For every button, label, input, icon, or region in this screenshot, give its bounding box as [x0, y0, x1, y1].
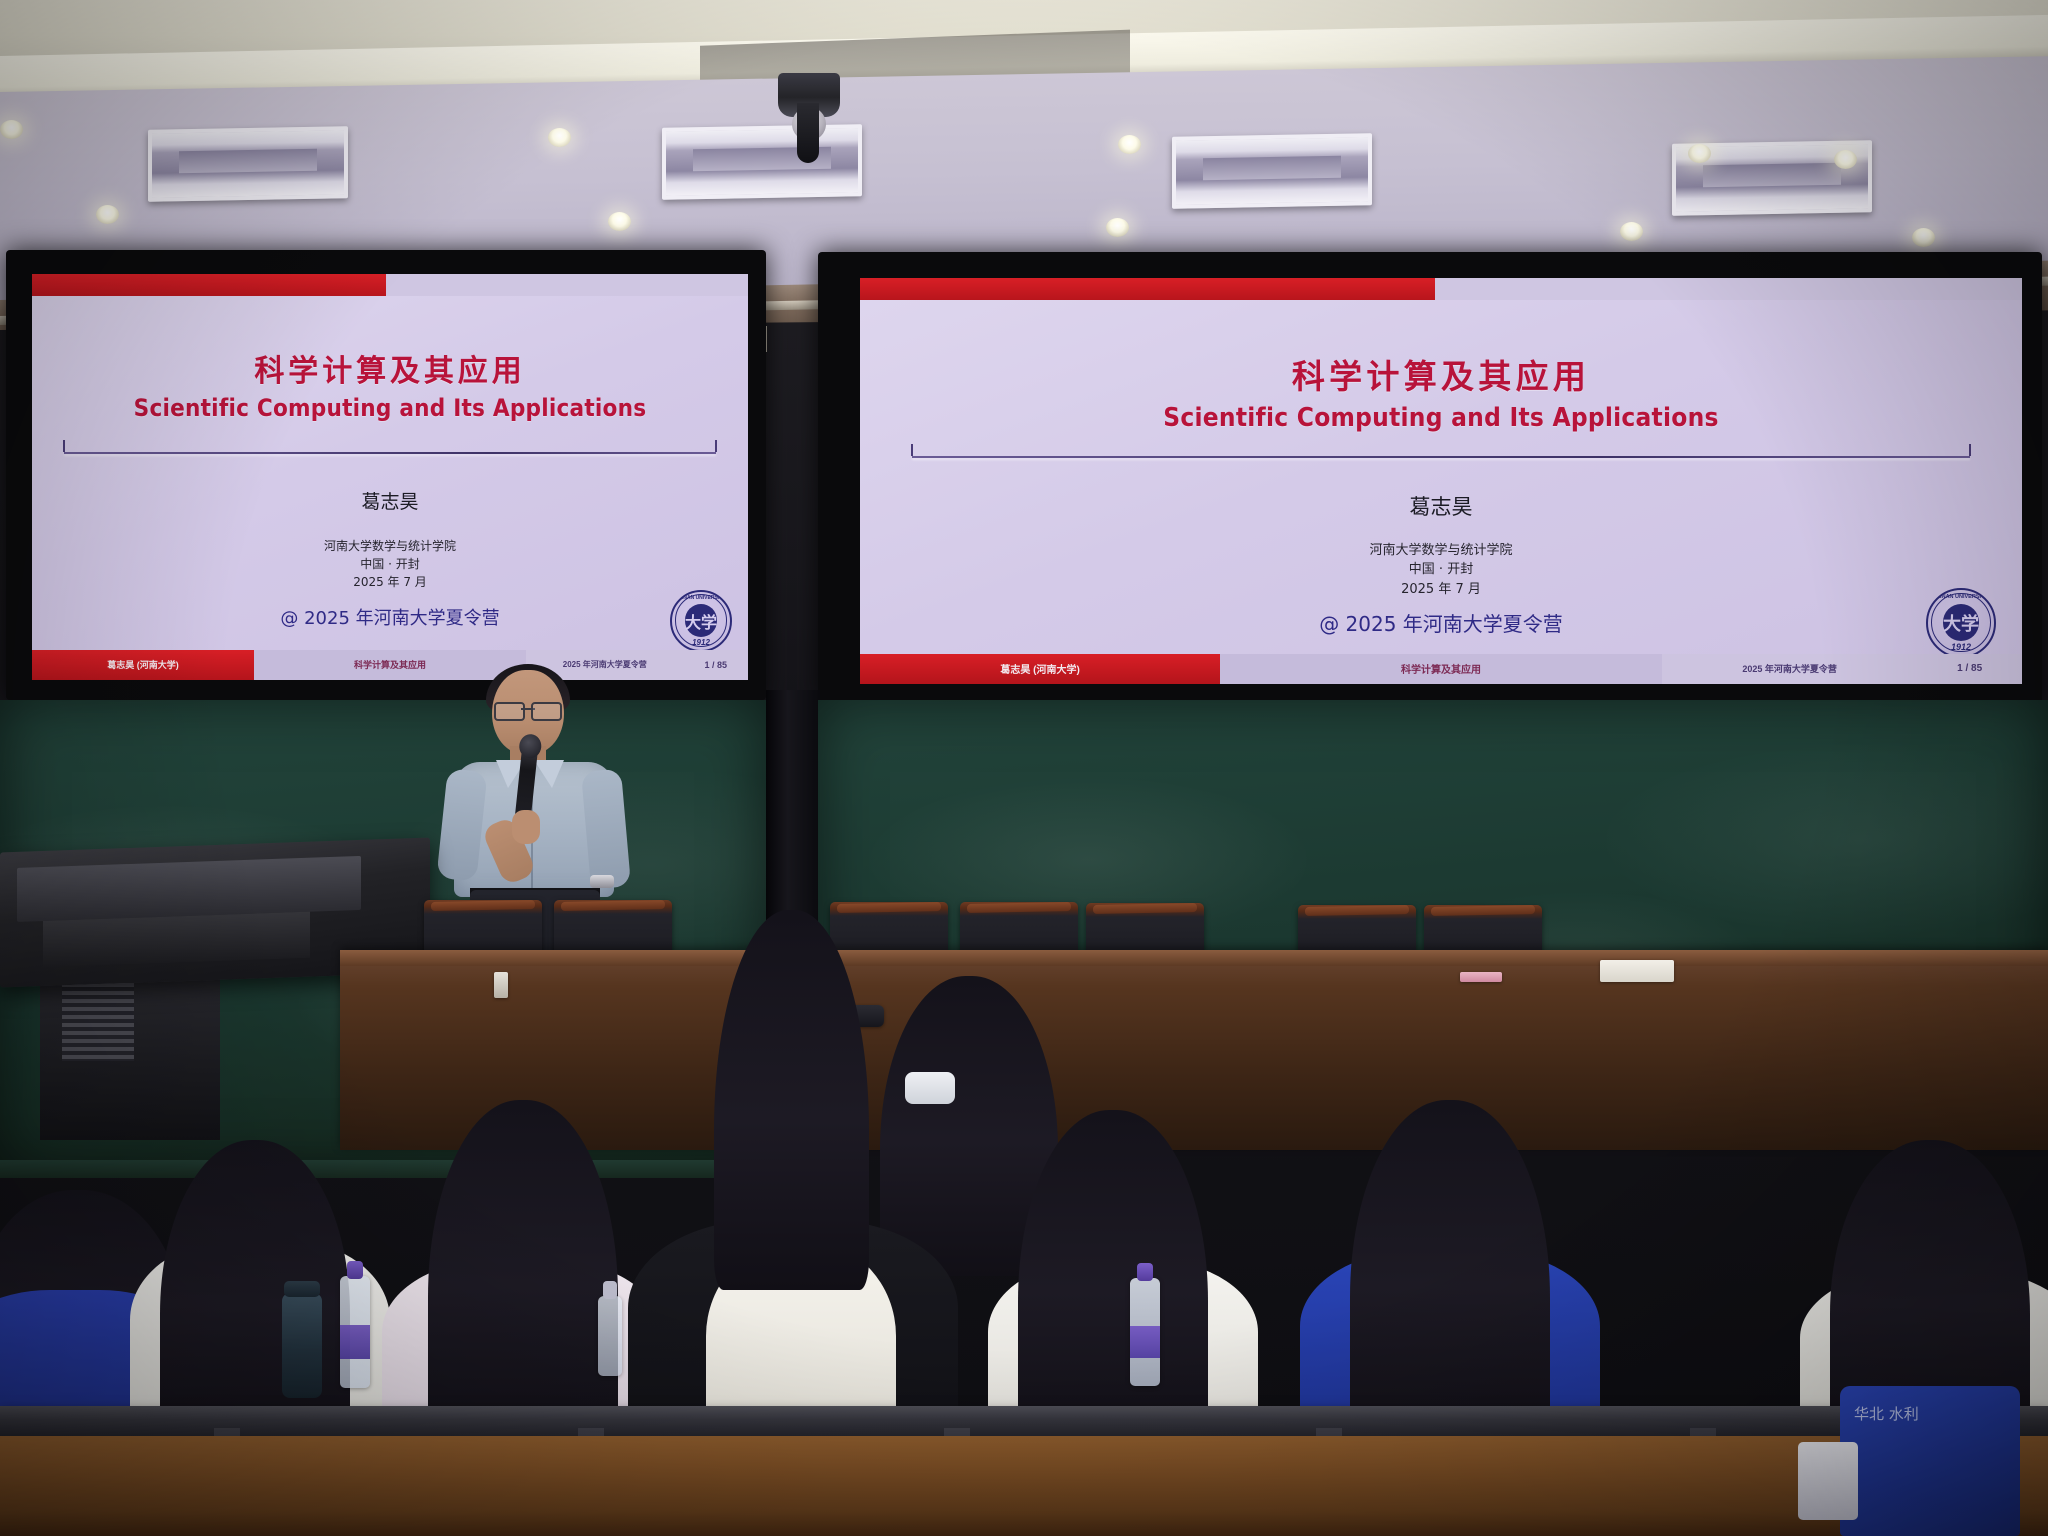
bottle-label — [340, 1325, 370, 1359]
slide-title-cn: 科学计算及其应用 — [860, 350, 2022, 398]
ceiling-downlight — [1620, 222, 1643, 241]
footer-event: 2025 年河南大学夏令营 — [1662, 654, 1918, 684]
footer-subject: 科学计算及其应用 — [1220, 654, 1662, 684]
slide-topbar — [860, 278, 2022, 300]
bag-print-text: 华北 水利 — [1854, 1404, 2006, 1426]
bottle-cap — [1137, 1263, 1154, 1281]
ac-vent-2 — [662, 124, 862, 199]
ceiling-downlight — [1106, 218, 1129, 237]
water-bottle[interactable] — [340, 1276, 370, 1388]
slide-topbar-red-block — [32, 274, 386, 296]
bottle-label — [1130, 1326, 1160, 1358]
thermos-tumbler[interactable] — [282, 1293, 322, 1398]
henan-university-logo: HENAN UNIVERSITY 大学 1912 — [670, 590, 732, 652]
projection-screen-right: 科学计算及其应用 Scientific Computing and Its Ap… — [818, 252, 2042, 704]
affiliation-line-1: 河南大学数学与统计学院 — [860, 541, 2022, 561]
desk-top-edge — [340, 950, 2048, 966]
audience-person — [1800, 1040, 2048, 1440]
water-bottle[interactable] — [1130, 1278, 1160, 1386]
slide-affiliation: 河南大学数学与统计学院 中国 · 开封 2025 年 7 月 — [32, 537, 748, 591]
ceiling-downlight — [1118, 135, 1141, 154]
screen-right-inner: 科学计算及其应用 Scientific Computing and Its Ap… — [818, 252, 2042, 704]
ac-vent-3 — [1172, 133, 1372, 208]
slide-event: @ 2025 年河南大学夏令营 — [860, 608, 2022, 637]
slide-title-rule — [912, 456, 1969, 458]
ceiling-downlight — [0, 120, 23, 139]
backpack[interactable]: 华北 水利 — [1840, 1386, 2020, 1536]
ceiling-downlight — [1834, 150, 1857, 169]
projector-stem — [797, 103, 819, 163]
logo-year: 1912 — [672, 638, 730, 647]
bottle-cap — [603, 1281, 616, 1299]
slide-footer: 葛志昊 (河南大学) 科学计算及其应用 2025 年河南大学夏令营 1 / 85 — [32, 650, 748, 680]
ceiling-downlight — [548, 128, 571, 147]
bag-side-pocket — [1798, 1442, 1858, 1520]
logo-arc-text: HENAN UNIVERSITY — [672, 595, 730, 601]
ac-vent-1 — [148, 126, 348, 201]
slide-topbar-red-block — [860, 278, 1435, 300]
slide-title-en: Scientific Computing and Its Application… — [860, 403, 2022, 433]
affiliation-line-3: 2025 年 7 月 — [860, 580, 2022, 600]
footer-author-org: 葛志昊 (河南大学) — [860, 654, 1220, 684]
ceiling-downlight — [608, 212, 631, 231]
slide-title-en: Scientific Computing and Its Application… — [32, 394, 748, 422]
audience-hair — [714, 910, 869, 1290]
slide-footer: 葛志昊 (河南大学) 科学计算及其应用 2025 年河南大学夏令营 1 / 85 — [860, 654, 2022, 684]
footer-author-org: 葛志昊 (河南大学) — [32, 650, 254, 680]
bench-backrail — [0, 1406, 2048, 1440]
slide-author: 葛志昊 — [860, 491, 2022, 521]
screen-left-inner: 科学计算及其应用 Scientific Computing and Its Ap… — [6, 250, 766, 700]
ceiling-downlight — [1688, 144, 1711, 163]
logo-arc-text: HENAN UNIVERSITY — [1928, 594, 1994, 600]
bottle-cap — [347, 1261, 364, 1279]
ceiling-downlight — [96, 205, 119, 224]
slide-title-cn: 科学计算及其应用 — [32, 346, 748, 390]
speaker-hand — [512, 810, 540, 844]
water-bottle[interactable] — [598, 1296, 622, 1376]
slide-body: 科学计算及其应用 Scientific Computing and Its Ap… — [32, 296, 748, 649]
slide-right: 科学计算及其应用 Scientific Computing and Its Ap… — [860, 278, 2022, 684]
footer-page: 1 / 85 — [684, 650, 748, 680]
slide-topbar — [32, 274, 748, 296]
audience-person — [648, 930, 938, 1440]
slide-event: @ 2025 年河南大学夏令营 — [32, 604, 748, 630]
audience-hair — [160, 1140, 350, 1440]
bench-desk-surface — [0, 1436, 2048, 1536]
logo-year: 1912 — [1928, 642, 1994, 652]
slide-body: 科学计算及其应用 Scientific Computing and Its Ap… — [860, 300, 2022, 653]
glasses-icon — [494, 702, 562, 717]
podium-keyboard-tray[interactable] — [43, 912, 310, 967]
affiliation-line-2: 中国 · 开封 — [32, 555, 748, 573]
paper-on-desk[interactable] — [1600, 960, 1674, 982]
audience-hair — [1018, 1110, 1208, 1440]
slide-affiliation: 河南大学数学与统计学院 中国 · 开封 2025 年 7 月 — [860, 541, 2022, 600]
wristwatch-icon — [590, 875, 614, 888]
footer-page: 1 / 85 — [1917, 654, 2022, 684]
slide-title-rule — [64, 452, 716, 454]
audience-person — [1330, 980, 1580, 1440]
ceiling-downlight — [1912, 228, 1935, 247]
audience-hair — [1350, 1100, 1550, 1440]
slide-author: 葛志昊 — [32, 487, 748, 514]
audience-person — [140, 1010, 370, 1440]
audience-hair — [428, 1100, 618, 1440]
podium-vent-grille — [62, 975, 134, 1061]
audience-person — [1008, 1010, 1228, 1440]
affiliation-line-1: 河南大学数学与统计学院 — [32, 537, 748, 555]
affiliation-line-3: 2025 年 7 月 — [32, 573, 748, 591]
henan-university-logo: HENAN UNIVERSITY 大学 1912 — [1926, 588, 1996, 658]
lecture-hall-scene: 科学计算及其应用 Scientific Computing and Its Ap… — [0, 0, 2048, 1536]
affiliation-line-2: 中国 · 开封 — [860, 560, 2022, 580]
slide-title-zone: 科学计算及其应用 Scientific Computing and Its Ap… — [860, 350, 2022, 433]
slide-title-zone: 科学计算及其应用 Scientific Computing and Its Ap… — [32, 346, 748, 422]
tumbler-cap — [284, 1281, 319, 1297]
projection-screen-left: 科学计算及其应用 Scientific Computing and Its Ap… — [6, 250, 766, 700]
slide-left: 科学计算及其应用 Scientific Computing and Its Ap… — [32, 274, 748, 680]
